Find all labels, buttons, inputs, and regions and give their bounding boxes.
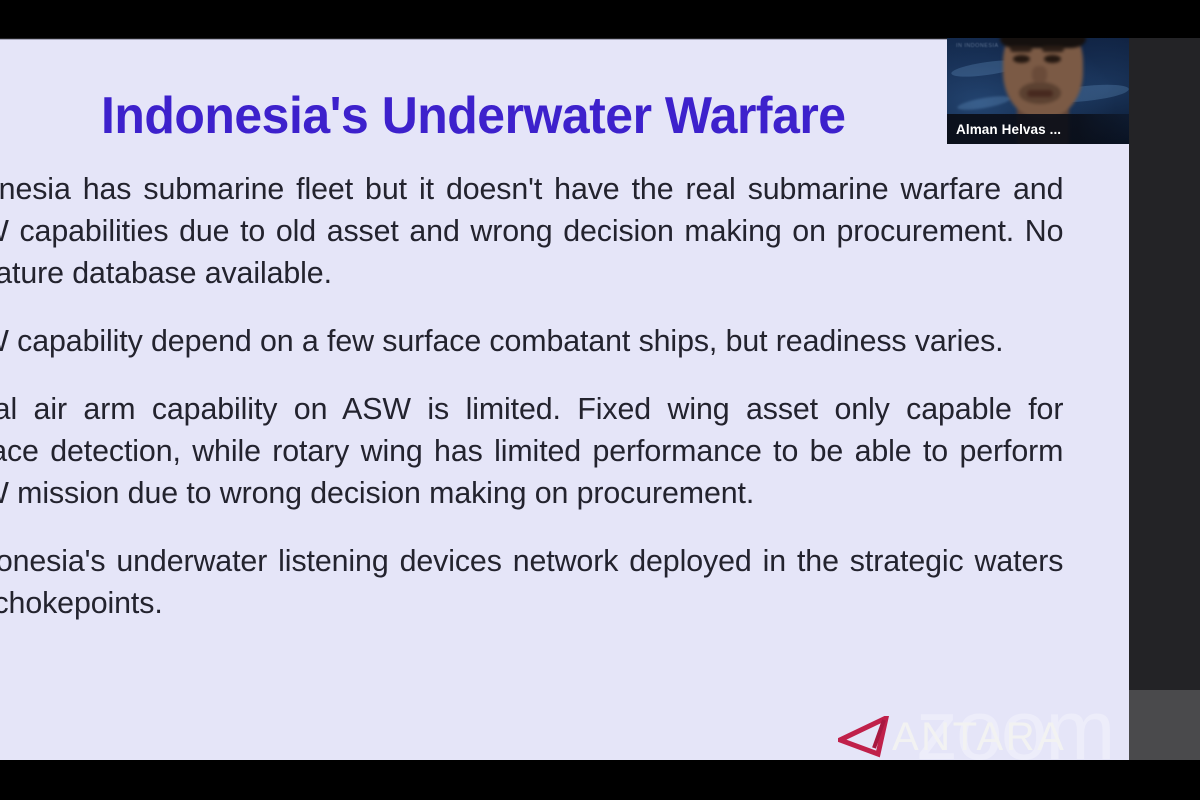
slide-paragraph-2: ASW capability depend on a few surface c… <box>0 320 1063 362</box>
letterbox-bar-top <box>0 0 1200 38</box>
shared-slide[interactable]: Indonesia's Underwater Warfare Indonesia… <box>0 39 1129 760</box>
slide-paragraph-1: Indonesia has submarine fleet but it doe… <box>0 168 1063 294</box>
letterbox-bar-bottom <box>0 760 1200 800</box>
participant-name-label: Alman Helvas ... <box>947 122 1061 137</box>
participant-name-strip: Alman Helvas ... <box>947 114 1129 144</box>
slide-paragraph-3: Naval air arm capability on ASW is limit… <box>0 388 1063 514</box>
screenshot-root: Indonesia's Underwater Warfare Indonesia… <box>0 0 1200 800</box>
slide-title: Indonesia's Underwater Warfare <box>0 88 947 144</box>
slide-paragraph-4: Indonesia's underwater listening devices… <box>0 540 1063 624</box>
slide-body: Indonesia has submarine fleet but it doe… <box>0 168 1129 624</box>
